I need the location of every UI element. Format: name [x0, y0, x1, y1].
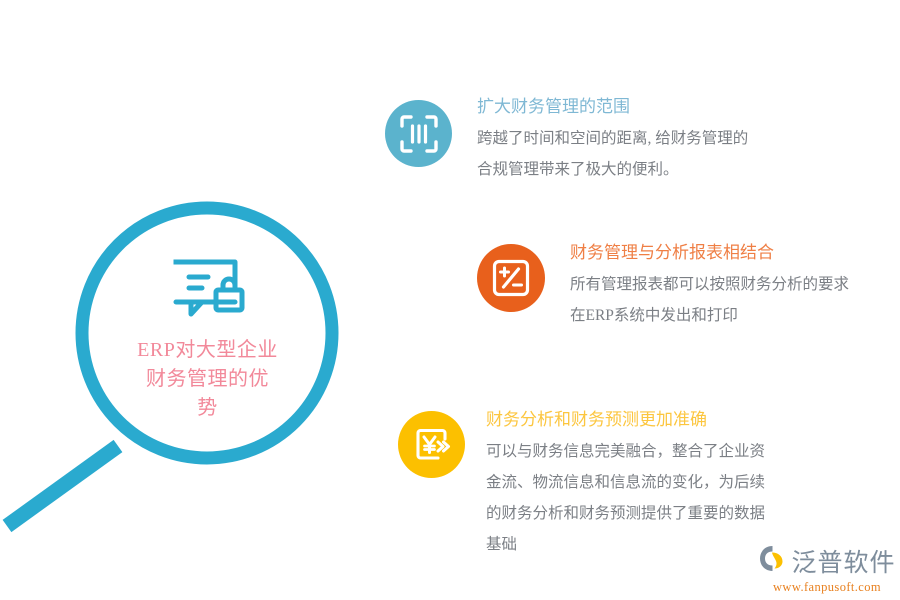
plus-minus-calc-icon	[477, 244, 545, 312]
feature-text-column: 扩大财务管理的范围 跨越了时间和空间的距离, 给财务管理的 合规管理带来了极大的…	[477, 94, 748, 185]
feature-body-line: 金流、物流信息和信息流的变化，为后续	[486, 467, 765, 498]
feature-title: 财务管理与分析报表相结合	[570, 240, 849, 266]
feature-body-line: 合规管理带来了极大的便利。	[477, 154, 748, 185]
brand-url: www.fanpusoft.com	[773, 580, 881, 595]
yuan-transfer-icon	[398, 411, 465, 478]
feature-block-reports-combined: 财务管理与分析报表相结合 所有管理报表都可以按照财务分析的要求 在ERP系统中发…	[477, 244, 849, 331]
brand-logo-row: 泛普软件	[758, 543, 895, 579]
infographic-canvas: ERP对大型企业 财务管理的优 势 扩大财务管理的范围 跨越了时间和空间的距离,…	[0, 0, 900, 600]
feature-block-accurate-forecast: 财务分析和财务预测更加准确 可以与财务信息完美融合，整合了企业资 金流、物流信息…	[398, 411, 765, 560]
feature-body: 可以与财务信息完美融合，整合了企业资 金流、物流信息和信息流的变化，为后续 的财…	[486, 436, 765, 560]
feature-text-column: 财务分析和财务预测更加准确 可以与财务信息完美融合，整合了企业资 金流、物流信息…	[486, 407, 765, 560]
secure-message-icon	[172, 258, 246, 320]
feature-text-column: 财务管理与分析报表相结合 所有管理报表都可以按照财务分析的要求 在ERP系统中发…	[570, 240, 849, 331]
feature-body-line: 所有管理报表都可以按照财务分析的要求	[570, 269, 849, 300]
brand-name: 泛普软件	[791, 543, 895, 579]
feature-title: 扩大财务管理的范围	[477, 94, 748, 120]
feature-body: 跨越了时间和空间的距离, 给财务管理的 合规管理带来了极大的便利。	[477, 123, 748, 185]
feature-body-line: 跨越了时间和空间的距离, 给财务管理的	[477, 123, 748, 154]
magnifier-caption: ERP对大型企业 财务管理的优 势	[100, 336, 315, 423]
fanpu-swirl-logo-icon	[758, 544, 788, 578]
magnifier-caption-line-1: ERP对大型企业	[100, 336, 315, 365]
feature-body: 所有管理报表都可以按照财务分析的要求 在ERP系统中发出和打印	[570, 269, 849, 331]
feature-body-line: 基础	[486, 529, 765, 560]
magnifier-handle	[7, 446, 118, 526]
feature-body-line: 在ERP系统中发出和打印	[570, 300, 849, 331]
feature-body-line: 的财务分析和财务预测提供了重要的数据	[486, 498, 765, 529]
feature-block-expand-scope: 扩大财务管理的范围 跨越了时间和空间的距离, 给财务管理的 合规管理带来了极大的…	[385, 100, 748, 185]
magnifier-caption-line-3: 势	[100, 394, 315, 423]
scan-barcode-icon	[385, 100, 452, 167]
feature-body-line: 可以与财务信息完美融合，整合了企业资	[486, 436, 765, 467]
brand-logo: 泛普软件 www.fanpusoft.com	[757, 543, 897, 595]
feature-title: 财务分析和财务预测更加准确	[486, 407, 765, 433]
magnifier-caption-line-2: 财务管理的优	[100, 365, 315, 394]
